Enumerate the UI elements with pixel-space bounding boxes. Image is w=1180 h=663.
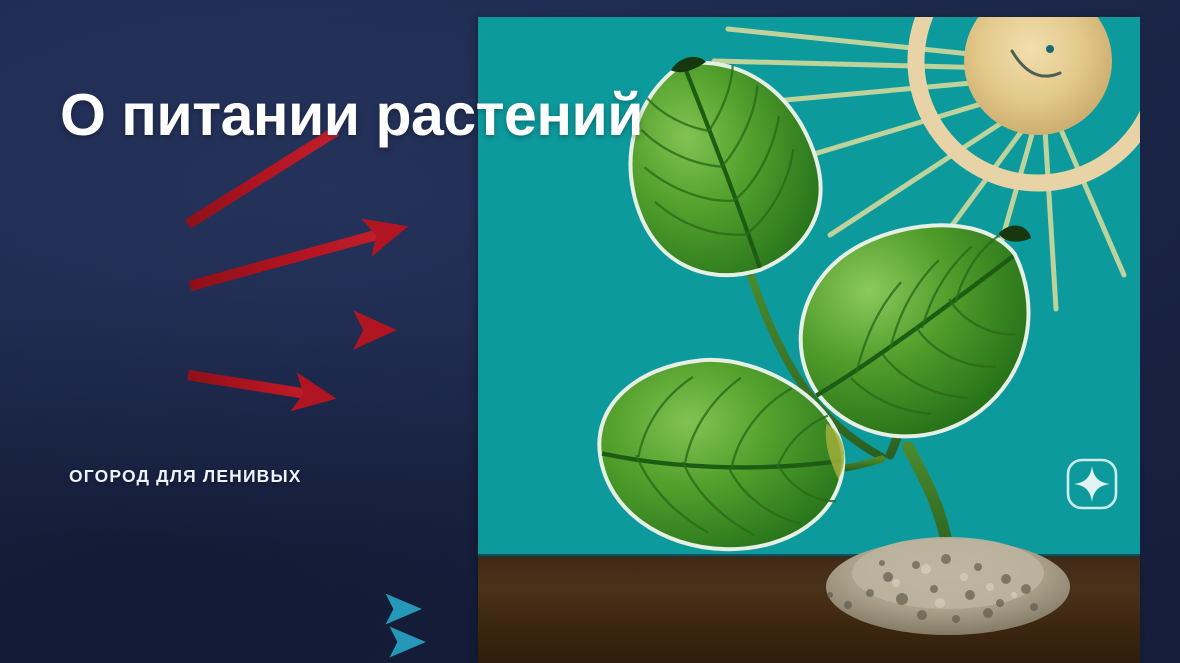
- slide-canvas: О питании растений ОГОРОД ДЛЯ ЛЕНИВЫХ: [0, 0, 1180, 663]
- root-clump-top: [852, 537, 1044, 609]
- four-point-star-icon: [1074, 466, 1110, 502]
- sparkle-badge-logo: [1064, 456, 1120, 512]
- slide-subtitle: ОГОРОД ДЛЯ ЛЕНИВЫХ: [69, 466, 302, 487]
- sun-eye: [1046, 45, 1054, 53]
- root-mass: [826, 537, 1070, 635]
- leaf-upper-left: [595, 28, 845, 302]
- slide-title: О питании растений: [60, 86, 643, 145]
